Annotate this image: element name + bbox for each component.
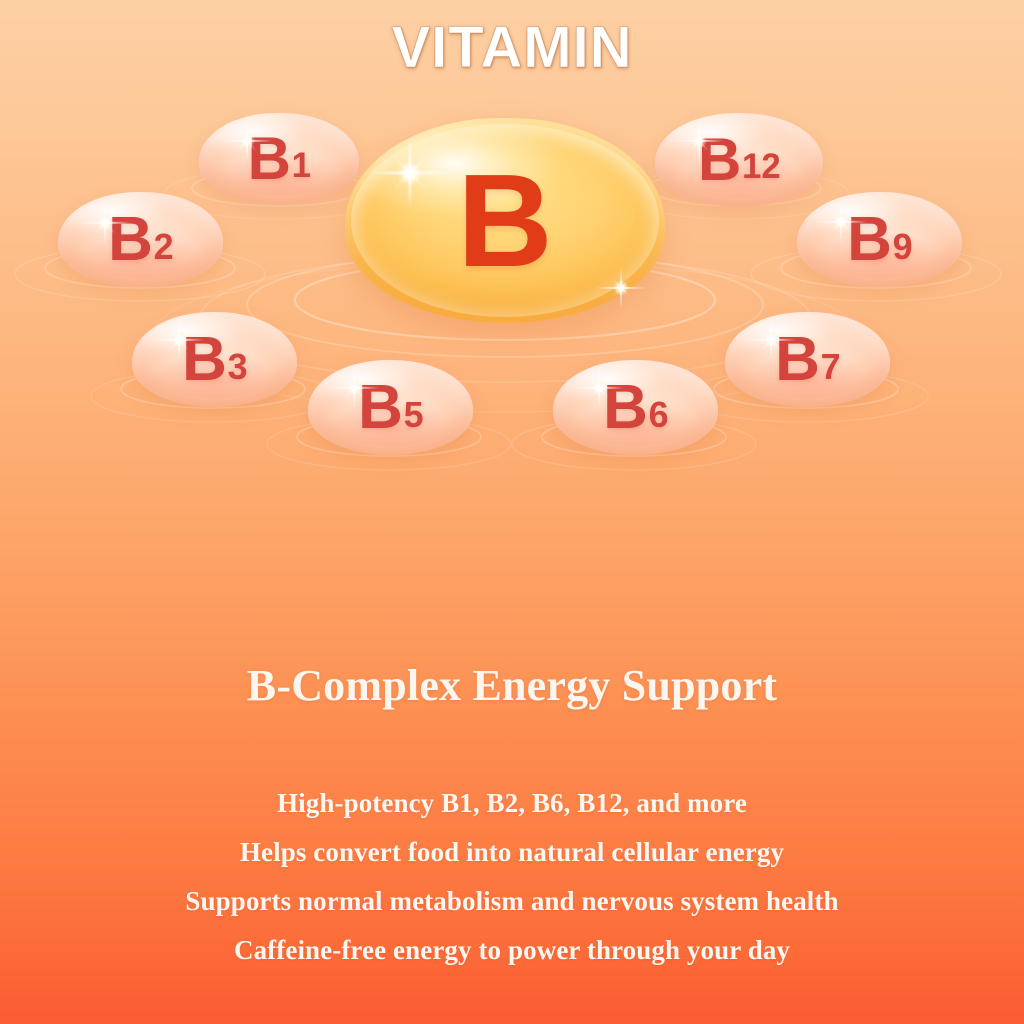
droplet-b-main[interactable]: B <box>345 118 665 323</box>
droplet-b1-letter: B <box>248 129 291 189</box>
droplet-b2-subscript: 2 <box>154 229 174 265</box>
vitamin-b-complex-poster: VITAMIN B2 B1 <box>0 0 1024 1024</box>
droplet-b2[interactable]: B2 <box>58 192 223 287</box>
droplet-b5[interactable]: B5 <box>308 360 473 455</box>
droplet-b9[interactable]: B9 <box>797 192 962 287</box>
droplet-b5-letter: B <box>358 377 403 439</box>
page-title: VITAMIN <box>0 14 1024 81</box>
droplet-b6-label: B6 <box>553 360 718 455</box>
droplet-b3[interactable]: B3 <box>132 312 297 407</box>
droplet-b6[interactable]: B6 <box>553 360 718 455</box>
droplet-b7-subscript: 7 <box>821 349 841 385</box>
droplet-b-main-label: B <box>345 118 665 323</box>
droplet-b3-label: B3 <box>132 312 297 407</box>
droplet-b7-letter: B <box>775 329 820 391</box>
benefit-line-4: Caffeine-free energy to power through yo… <box>0 926 1024 975</box>
droplet-b5-subscript: 5 <box>404 397 424 433</box>
droplet-b6-letter: B <box>603 377 648 439</box>
droplet-b12-letter: B <box>698 130 741 190</box>
droplet-b12-subscript: 12 <box>742 150 781 185</box>
droplet-b9-subscript: 9 <box>893 229 913 265</box>
droplet-b2-label: B2 <box>58 192 223 287</box>
benefit-line-3: Supports normal metabolism and nervous s… <box>0 877 1024 926</box>
droplet-b9-label: B9 <box>797 192 962 287</box>
droplet-b1[interactable]: B1 <box>199 113 359 205</box>
droplet-b7[interactable]: B7 <box>725 312 890 407</box>
droplet-b2-letter: B <box>108 209 153 271</box>
droplet-b1-subscript: 1 <box>292 149 311 184</box>
benefit-line-2: Helps convert food into natural cellular… <box>0 828 1024 877</box>
droplet-b3-subscript: 3 <box>228 349 248 385</box>
benefit-line-1: High-potency B1, B2, B6, B12, and more <box>0 779 1024 828</box>
droplet-b3-letter: B <box>182 329 227 391</box>
headline: B-Complex Energy Support <box>0 660 1024 711</box>
benefit-list: High-potency B1, B2, B6, B12, and more H… <box>0 779 1024 975</box>
droplet-b6-subscript: 6 <box>649 397 669 433</box>
droplet-b7-label: B7 <box>725 312 890 407</box>
droplet-b5-label: B5 <box>308 360 473 455</box>
droplet-b9-letter: B <box>847 209 892 271</box>
droplet-b1-label: B1 <box>199 113 359 205</box>
